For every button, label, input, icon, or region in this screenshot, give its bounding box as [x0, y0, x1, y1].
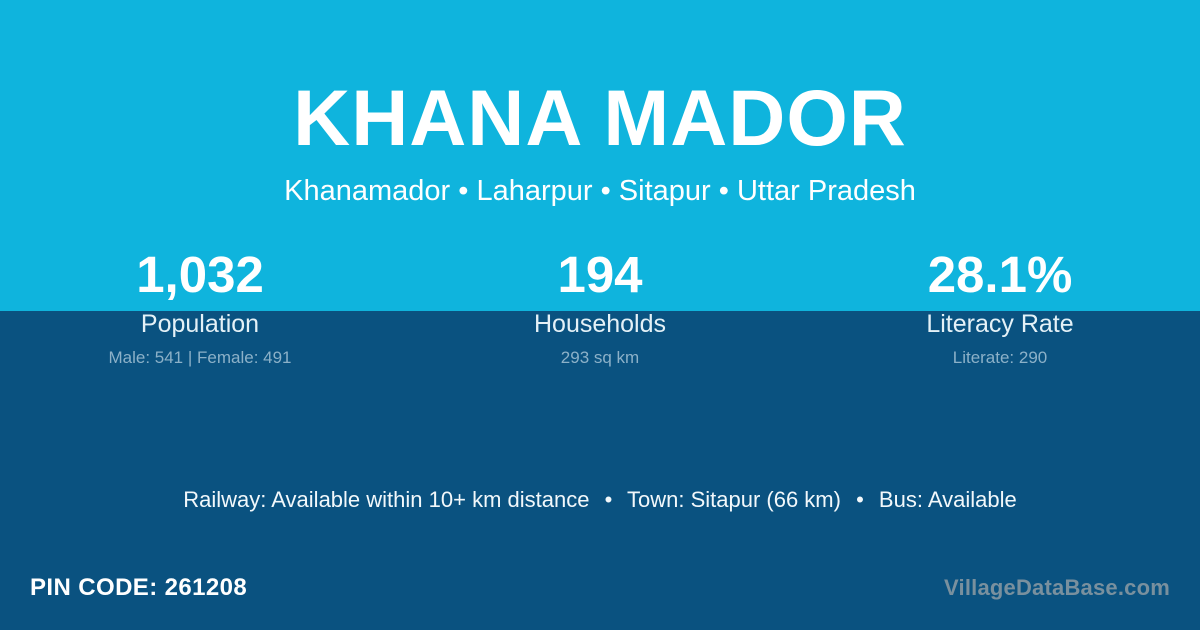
- infra-railway: Railway: Available within 10+ km distanc…: [183, 487, 589, 512]
- pin-code-label: PIN CODE: 261208: [30, 572, 247, 603]
- stat-label-population: Population: [0, 311, 400, 339]
- stat-sub-households: 293 sq km: [400, 349, 800, 368]
- stats-row: 1,032 Population Male: 541 | Female: 491…: [0, 246, 1200, 368]
- stat-label-literacy-rate: Literacy Rate: [800, 311, 1200, 339]
- infra-bus: Bus: Available: [879, 487, 1017, 512]
- stat-sub-literacy-rate: Literate: 290: [800, 349, 1200, 368]
- site-brand-watermark: VillageDataBase.com: [944, 574, 1170, 603]
- stat-value-literacy-rate: 28.1%: [800, 246, 1200, 305]
- stat-label-households: Households: [400, 311, 800, 339]
- infra-separator-1: •: [596, 483, 622, 516]
- infra-town: Town: Sitapur (66 km): [627, 487, 841, 512]
- page-title: KHANA MADOR: [0, 78, 1200, 157]
- stat-population: 1,032 Population Male: 541 | Female: 491: [0, 246, 400, 368]
- stat-sub-population: Male: 541 | Female: 491: [0, 349, 400, 368]
- stat-value-households: 194: [400, 246, 800, 305]
- stat-literacy-rate: 28.1% Literacy Rate Literate: 290: [800, 246, 1200, 368]
- infrastructure-row: Railway: Available within 10+ km distanc…: [0, 483, 1200, 516]
- card-footer: PIN CODE: 261208 VillageDataBase.com: [0, 572, 1200, 616]
- breadcrumb: Khanamador • Laharpur • Sitapur • Uttar …: [0, 177, 1200, 206]
- card-header: KHANA MADOR Khanamador • Laharpur • Sita…: [0, 0, 1200, 206]
- infra-separator-2: •: [847, 483, 873, 516]
- stat-value-population: 1,032: [0, 246, 400, 305]
- stat-households: 194 Households 293 sq km: [400, 246, 800, 368]
- village-info-card: KHANA MADOR Khanamador • Laharpur • Sita…: [0, 0, 1200, 630]
